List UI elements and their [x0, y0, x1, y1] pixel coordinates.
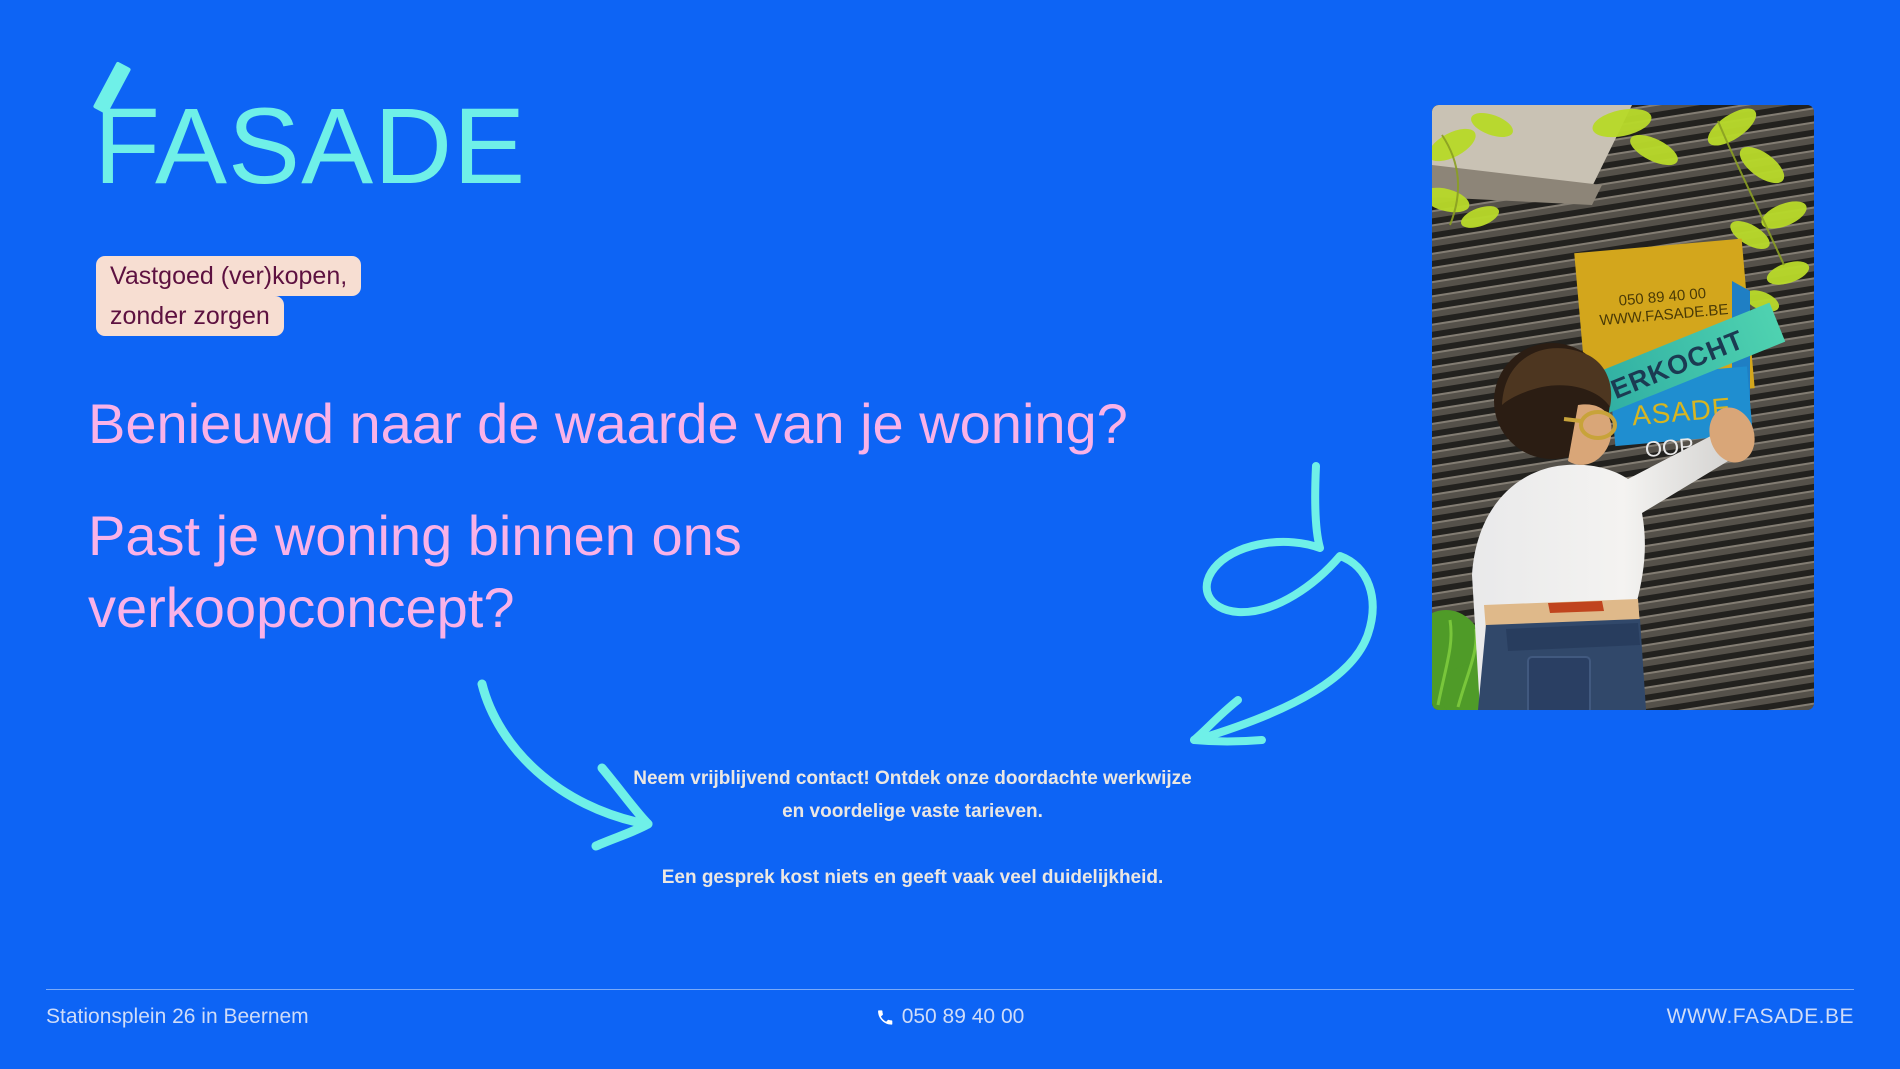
hero-photo-illustration: 050 89 40 00 WWW.FASADE.BE ASADE OOP VER…: [1432, 105, 1814, 710]
tagline-line-2: zonder zorgen: [96, 296, 284, 336]
hero-photo: 050 89 40 00 WWW.FASADE.BE ASADE OOP VER…: [1432, 105, 1814, 710]
footer-website[interactable]: WWW.FASADE.BE: [1667, 1002, 1854, 1032]
footer-divider: [46, 989, 1854, 990]
looping-squiggle-arrow-down-left-icon: [1168, 438, 1418, 768]
poster-slide: FASADE Vastgoed (ver)kopen, zonder zorge…: [0, 0, 1900, 1069]
headline-primary: Benieuwd naar de waarde van je woning?: [88, 388, 1418, 460]
body-copy: Neem vrijblijvend contact! Ontdek onze d…: [630, 762, 1195, 894]
footer: Stationsplein 26 in Beernem 050 89 40 00…: [46, 997, 1854, 1037]
footer-address: Stationsplein 26 in Beernem: [46, 1002, 309, 1032]
tagline-badge: Vastgoed (ver)kopen, zonder zorgen: [96, 256, 456, 336]
brand-logo: FASADE: [94, 62, 614, 207]
headline-secondary: Past je woning binnen ons verkoopconcept…: [88, 500, 908, 644]
footer-phone[interactable]: 050 89 40 00: [876, 1002, 1025, 1032]
phone-icon: [876, 1008, 895, 1027]
footer-phone-number: 050 89 40 00: [902, 1002, 1025, 1032]
body-paragraph-2: Een gesprek kost niets en geeft vaak vee…: [630, 861, 1195, 894]
tagline-line-1: Vastgoed (ver)kopen,: [96, 256, 361, 296]
logo-wordmark: FASADE: [94, 92, 526, 200]
body-paragraph-1: Neem vrijblijvend contact! Ontdek onze d…: [630, 762, 1195, 828]
